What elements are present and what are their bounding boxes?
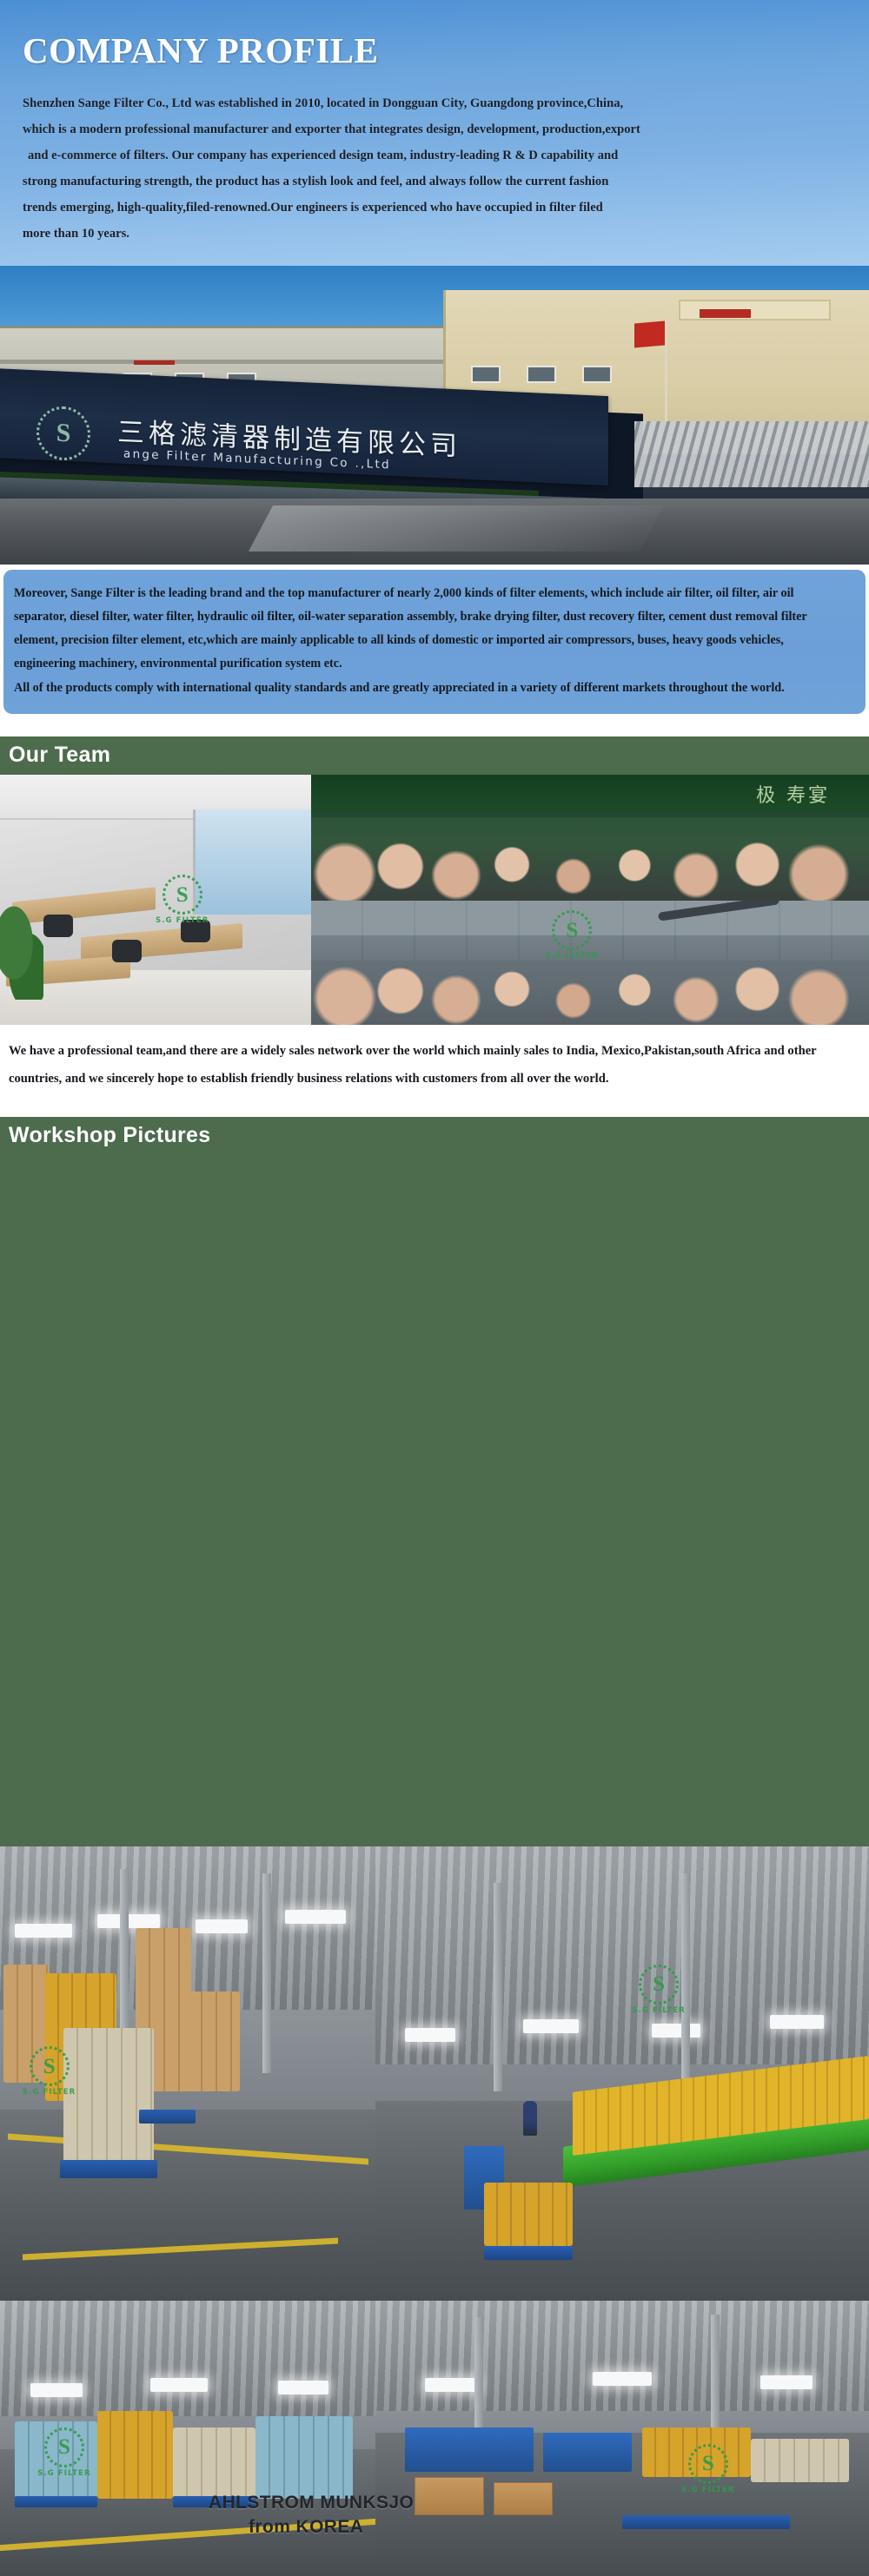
- products-paragraph: Moreover, Sange Filter is the leading br…: [14, 582, 846, 676]
- window: [471, 366, 501, 383]
- workshop-photo-packing-area: S S.G FILTER: [375, 2301, 869, 2576]
- team-description-paragraph: We have a professional team,and there ar…: [0, 1025, 869, 1106]
- material-origin-country: from KOREA: [249, 2517, 414, 2538]
- filter-drums: [642, 2427, 751, 2477]
- workshop-photo-warehouse-pallets: S S.G FILTER: [0, 1846, 375, 2301]
- team-photo-collage: S S.G FILTER 极 寿宴 S S.G FILTER: [0, 775, 869, 1025]
- factory-gate: [634, 421, 869, 487]
- company-intro-paragraph: Shenzhen Sange Filter Co., Ltd was estab…: [23, 90, 852, 266]
- filter-drums: [15, 2421, 97, 2499]
- filter-drums: [255, 2416, 353, 2499]
- intro-line-3: and e-commerce of filters. Our company h…: [23, 142, 852, 168]
- office-photo: S S.G FILTER: [0, 775, 311, 1025]
- intro-line-1: Shenzhen Sange Filter Co., Ltd was estab…: [23, 90, 852, 116]
- red-flag: [634, 321, 665, 348]
- carton-box: [415, 2477, 484, 2515]
- skylight: [593, 2372, 652, 2386]
- skylight: [770, 2015, 824, 2029]
- desk: [81, 922, 242, 961]
- filter-paper-rolls: [3, 1965, 49, 2083]
- warehouse-roof: [375, 2301, 869, 2411]
- factory-yard-ground: [0, 499, 869, 565]
- intro-line-5: trends emerging, high-quality,filed-reno…: [23, 195, 852, 221]
- skylight: [285, 1910, 346, 1924]
- blue-info-box-wrapper: Moreover, Sange Filter is the leading br…: [0, 565, 869, 724]
- structural-column: [494, 1883, 502, 2092]
- structural-column: [711, 2315, 720, 2430]
- filter-paper-rolls: [188, 1991, 240, 2091]
- red-wall-sign: [134, 360, 176, 365]
- flag-pole: [665, 320, 667, 433]
- filter-drums: [751, 2439, 850, 2483]
- page-title: COMPANY PROFILE: [23, 30, 869, 71]
- window-wall: [193, 809, 311, 915]
- skylight: [405, 2028, 455, 2042]
- carton-box: [494, 2482, 553, 2515]
- intro-line-2: which is a modern professional manufactu…: [23, 116, 852, 142]
- skylight: [150, 2378, 208, 2392]
- filter-elements-pallet: [484, 2183, 573, 2246]
- skylight: [30, 2383, 83, 2397]
- office-chair: [181, 920, 210, 942]
- office-chair: [43, 915, 73, 937]
- skylight: [425, 2378, 479, 2392]
- section-header-our-team: Our Team: [0, 736, 869, 775]
- warehouse-roof: [0, 2301, 375, 2416]
- office-chair: [112, 940, 142, 962]
- logo-letter: S: [56, 418, 71, 448]
- skylight: [15, 1924, 72, 1938]
- blue-crates-stack: [543, 2433, 632, 2471]
- filter-paper-rolls: [63, 2028, 154, 2164]
- team-group-photo-top: 极 寿宴: [311, 775, 869, 901]
- structural-column: [681, 1873, 690, 2091]
- skylight: [523, 2019, 579, 2033]
- skylight: [97, 1914, 160, 1928]
- red-banner: [700, 309, 750, 317]
- blue-crates-stack: [405, 2427, 534, 2472]
- blue-pallet: [139, 2110, 196, 2124]
- material-brand-name: AHLSTROM MUNKSJO: [209, 2493, 414, 2513]
- intro-line-4: strong manufacturing strength, the produ…: [23, 168, 852, 195]
- potted-plant: [0, 905, 43, 1000]
- factory-building-photo: S 三格滤清器制造有限公司 ange Filter Manufacturing …: [0, 266, 869, 565]
- company-profile-page: COMPANY PROFILE Shenzhen Sange Filter Co…: [0, 0, 869, 2576]
- staff-crowd: [311, 810, 869, 901]
- section-header-workshop-pictures: Workshop Pictures: [0, 1117, 869, 1846]
- watermark-letter: S: [176, 884, 189, 906]
- stage-decoration-text: 极 寿宴: [756, 780, 830, 808]
- skylight: [278, 2381, 328, 2394]
- workshop-photo-grid: S S.G FILTER S: [0, 1846, 869, 2576]
- window: [582, 366, 612, 383]
- filter-drums: [97, 2411, 172, 2499]
- products-description-box: Moreover, Sange Filter is the leading br…: [3, 570, 866, 714]
- window: [527, 366, 556, 383]
- filter-drums: [173, 2427, 255, 2499]
- skylight: [760, 2375, 813, 2389]
- team-group-photo-bottom: S S.G FILTER: [311, 901, 869, 1025]
- intro-line-6: more than 10 years.: [23, 221, 852, 247]
- worker: [523, 2101, 537, 2136]
- material-origin-caption: AHLSTROM MUNKSJO from KOREA: [209, 2493, 414, 2538]
- team-paragraph-text: We have a professional team,and there ar…: [9, 1037, 852, 1093]
- structural-column: [474, 2317, 483, 2427]
- blue-pallet: [484, 2246, 573, 2260]
- quality-paragraph: All of the products comply with internat…: [14, 677, 846, 700]
- workshop-photo-production-line: S S.G FILTER: [375, 1846, 869, 2301]
- blue-pallet: [622, 2515, 790, 2529]
- hero-section: COMPANY PROFILE Shenzhen Sange Filter Co…: [0, 0, 869, 565]
- staff-crowd: [311, 935, 869, 1025]
- blue-pallet: [15, 2496, 97, 2507]
- skylight: [652, 2024, 700, 2038]
- window-row-right: [471, 366, 612, 383]
- blue-pallet: [60, 2160, 157, 2178]
- structural-column: [262, 1873, 271, 2073]
- skylight: [196, 1919, 248, 1933]
